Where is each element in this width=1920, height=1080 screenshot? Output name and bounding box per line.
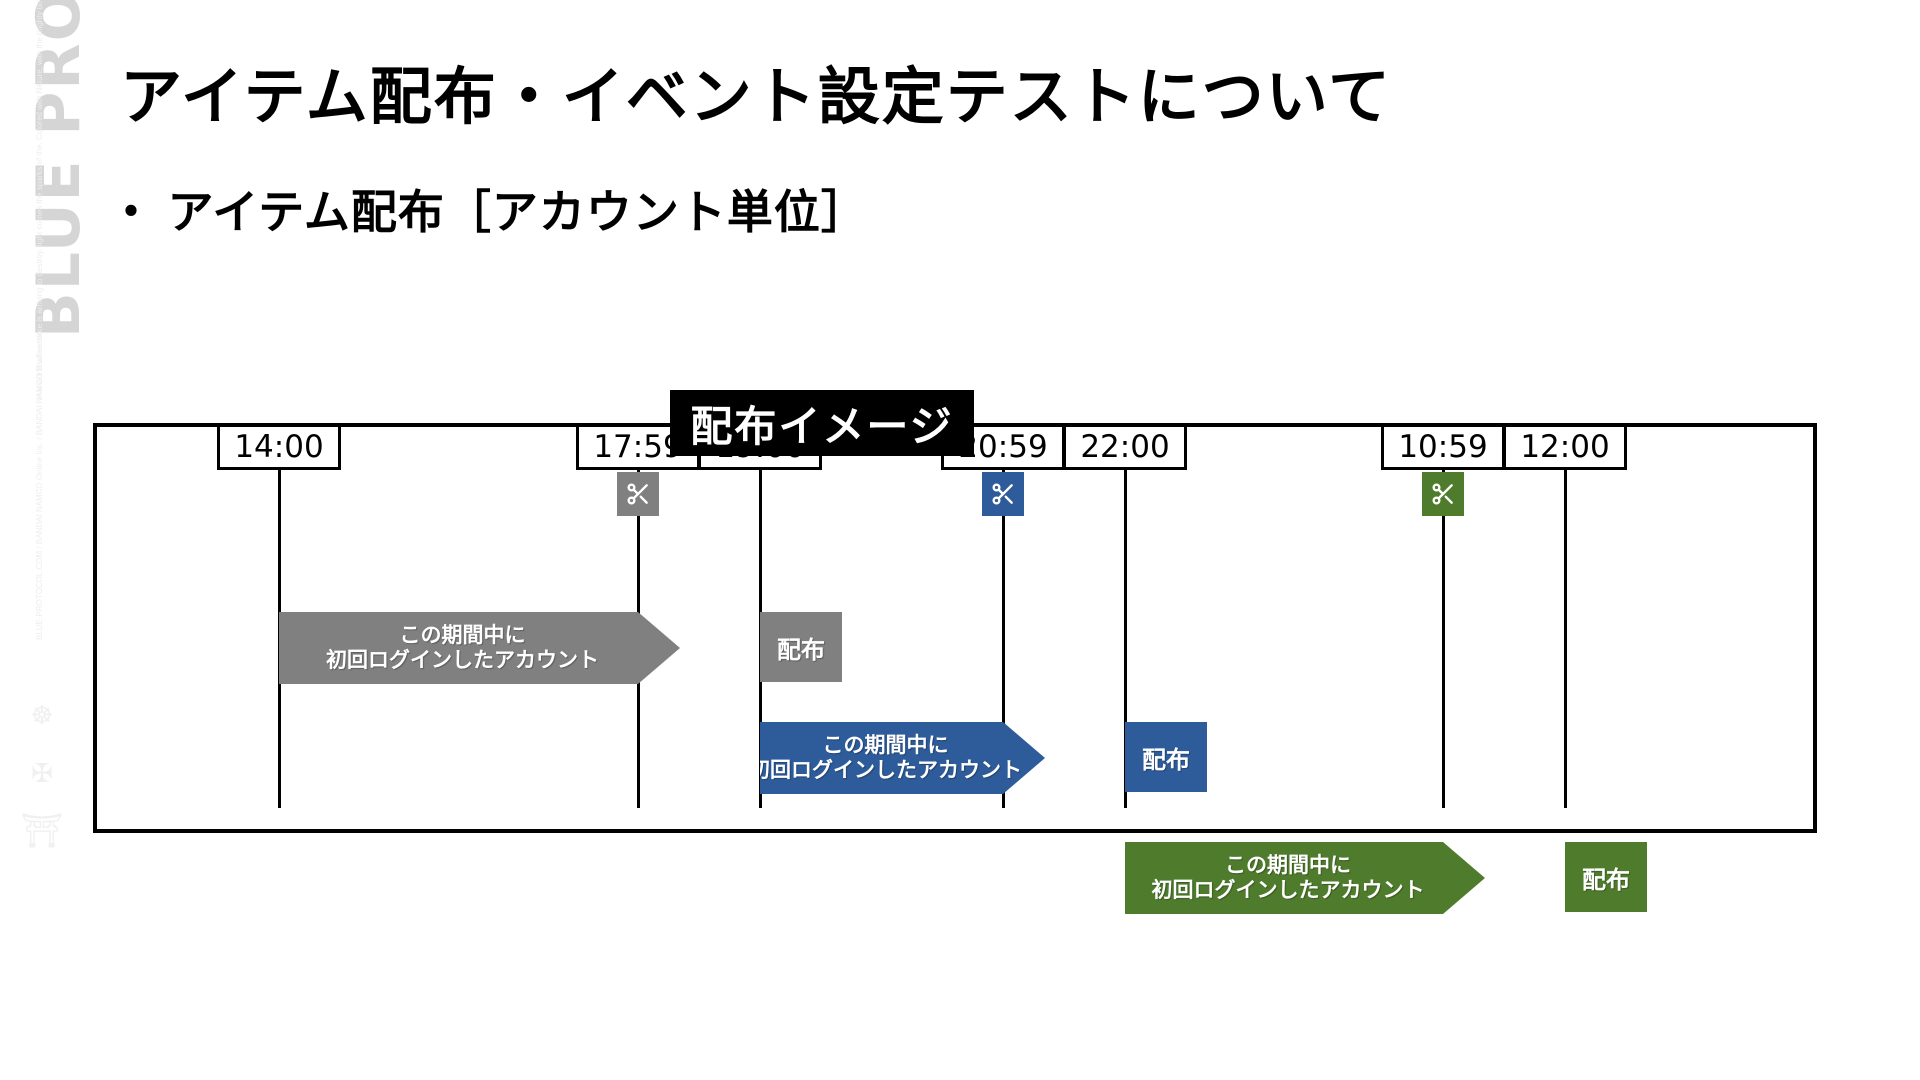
page-subtitle: ・ アイテム配布［アカウント単位］	[108, 176, 868, 242]
brand-rail: BLUE PROTOCOL In a world where time is a…	[0, 0, 92, 1080]
timeline-axis-10-59	[1442, 470, 1445, 808]
timeline-axis-12-00	[1564, 470, 1567, 808]
period-arrow-blue-line1: この期間中に	[823, 733, 949, 758]
distribution-block-blue: 配布	[1125, 722, 1207, 792]
scissors-icon-green	[1422, 472, 1464, 516]
scissors-icon-gray	[617, 472, 659, 516]
crest-shield-icon: ✠	[12, 758, 72, 788]
time-label-10-59: 10:59	[1381, 424, 1505, 470]
brand-wordmark: BLUE PROTOCOL	[16, 28, 102, 338]
crest-emblem-icon: ⛩	[12, 816, 72, 846]
scissors-icon-blue	[982, 472, 1024, 516]
period-arrow-green-line2: 初回ログインしたアカウント	[1152, 878, 1425, 903]
period-arrow-gray-line2: 初回ログインしたアカウント	[326, 648, 599, 673]
period-arrow-blue: この期間中に初回ログインしたアカウント	[760, 722, 1045, 794]
period-arrow-gray-line1: この期間中に	[400, 623, 526, 648]
period-arrow-green-line1: この期間中に	[1225, 853, 1351, 878]
period-arrow-blue-line2: 初回ログインしたアカウント	[749, 758, 1022, 783]
period-arrow-gray: この期間中に初回ログインしたアカウント	[279, 612, 680, 684]
diagram-banner-title: 配布イメージ	[670, 390, 974, 456]
crest-ornament-icon: ☸	[12, 700, 72, 730]
time-label-12-00: 12:00	[1503, 424, 1627, 470]
period-arrow-green: この期間中に初回ログインしたアカウント	[1125, 842, 1485, 914]
page-title: アイテム配布・イベント設定テストについて	[120, 46, 1392, 136]
time-label-14-00: 14:00	[217, 424, 341, 470]
brand-copyright: BLUE-PROTOCOL.COM / BANDAI NAMCO Online …	[34, 490, 45, 640]
distribution-block-green: 配布	[1565, 842, 1647, 912]
distribution-block-gray: 配布	[760, 612, 842, 682]
time-label-22-00: 22:00	[1063, 424, 1187, 470]
